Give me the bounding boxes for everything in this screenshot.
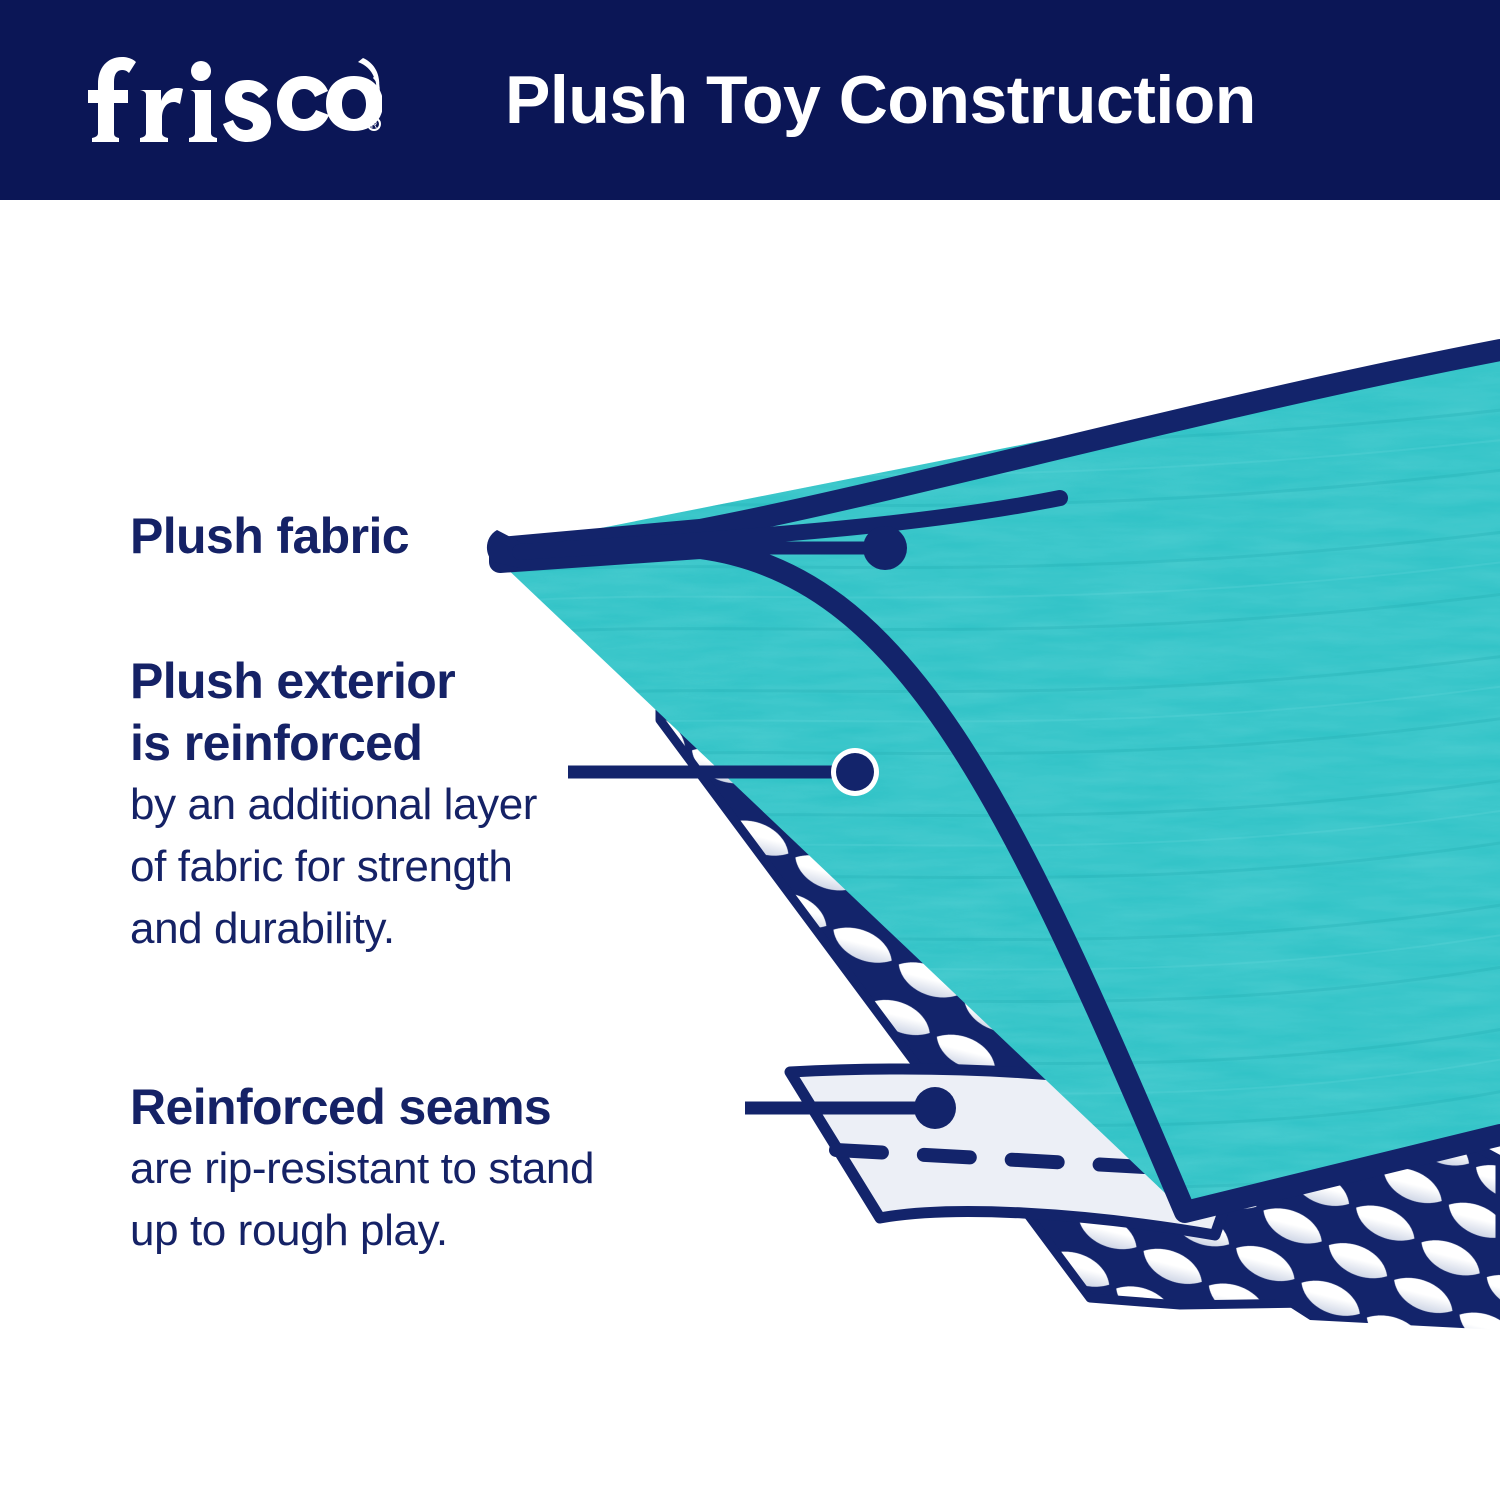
label-reinforced-seams-body: are rip-resistant to stand up to rough p… xyxy=(130,1138,594,1262)
label-reinforced-seams-heading: Reinforced seams xyxy=(130,1076,594,1138)
page-title: Plush Toy Construction xyxy=(505,50,1405,150)
header-bar: R Plush Toy Construction xyxy=(0,0,1500,200)
label-plush-exterior-body: by an additional layer of fabric for str… xyxy=(130,774,537,960)
label-plush-exterior: Plush exterior is reinforced by an addit… xyxy=(130,650,537,960)
label-reinforced-seams: Reinforced seams are rip-resistant to st… xyxy=(130,1076,594,1262)
frisco-logo: R xyxy=(82,44,382,149)
label-plush-exterior-heading: Plush exterior is reinforced xyxy=(130,650,537,774)
svg-text:R: R xyxy=(371,120,378,130)
label-plush-fabric: Plush fabric xyxy=(130,505,409,567)
label-plush-fabric-heading: Plush fabric xyxy=(130,505,409,567)
infographic-page: R Plush Toy Construction xyxy=(0,0,1500,1500)
